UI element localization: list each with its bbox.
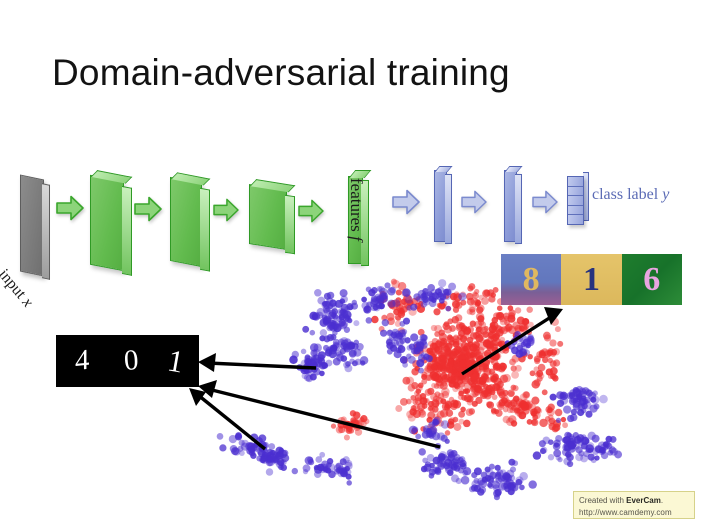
conv-layer-3 [249,184,287,250]
conv-layer-1 [90,175,124,272]
svhn-tile: 1 [561,254,621,305]
svhn-digit: 6 [643,263,660,297]
output-cell [568,177,583,187]
conv-layer-2-top [171,172,211,185]
conv-layer-2 [170,177,202,267]
features-label: features f [346,178,366,241]
conv-layer-1-top [91,170,133,183]
features-label-variable: f [347,236,366,241]
target-domain-sample-panel: 8 1 6 [501,254,682,305]
page-title: Domain-adversarial training [52,52,510,94]
fc-layer-1-top [434,166,452,172]
source-domain-sample-panel: 4 0 1 [57,336,198,386]
annotation-arrow-to-mnist-3 [189,388,265,449]
output-cell [568,187,583,197]
mnist-digit: 0 [123,346,139,376]
output-cell [568,215,583,224]
green-block-arrow [56,195,84,221]
watermark-prefix: Created with [579,496,626,505]
fc-layer-1 [434,170,447,242]
svhn-digit: 8 [523,263,540,297]
conv-layer-3-side [285,195,295,255]
watermark-line-1: Created with EverCam. [579,495,689,507]
output-cell [568,206,583,216]
green-block-arrow [213,198,239,222]
input-block-side [42,183,50,280]
conv-layer-2-side [200,188,210,272]
svhn-tile: 6 [622,254,682,305]
annotation-arrow-to-svhn [462,307,563,374]
scatter-points-group [217,279,622,501]
blue-block-arrow [532,190,558,214]
features-label-text: features [347,178,366,236]
output-layer-stack [567,176,584,225]
watermark-brand: EverCam [626,496,661,505]
fc-layer-2-top [504,166,522,172]
features-layer-top [349,170,372,178]
mnist-digit: 4 [75,346,89,377]
conv-layer-1-side [122,186,132,276]
fc-layer-1-side [445,174,452,244]
output-cell [568,196,583,206]
watermark-suffix: . [661,496,663,505]
conv-layer-3-top [250,179,296,192]
blue-block-arrow [461,190,487,214]
annotation-arrow-to-mnist-1 [198,353,316,372]
output-layer-cells [567,176,584,225]
green-block-arrow [298,199,324,223]
fc-layer-2 [504,170,517,242]
class-label: class label y [592,186,669,204]
blue-block-arrow [392,189,420,215]
input-block [20,174,44,276]
slide-canvas: Domain-adversarial training [0,0,701,524]
annotation-arrow-to-mnist-2 [198,380,440,447]
svhn-tile: 8 [501,254,561,305]
fc-layer-2-side [515,174,522,244]
mnist-digit: 1 [165,344,186,377]
annotation-arrows-group [189,307,563,449]
evercam-watermark: Created with EverCam. http://www.camdemy… [573,491,695,519]
class-label-variable: y [662,186,669,203]
class-label-text: class label [592,186,662,203]
svhn-digit: 1 [583,263,600,297]
green-block-arrow [134,196,162,222]
watermark-url: http://www.camdemy.com [579,507,689,519]
